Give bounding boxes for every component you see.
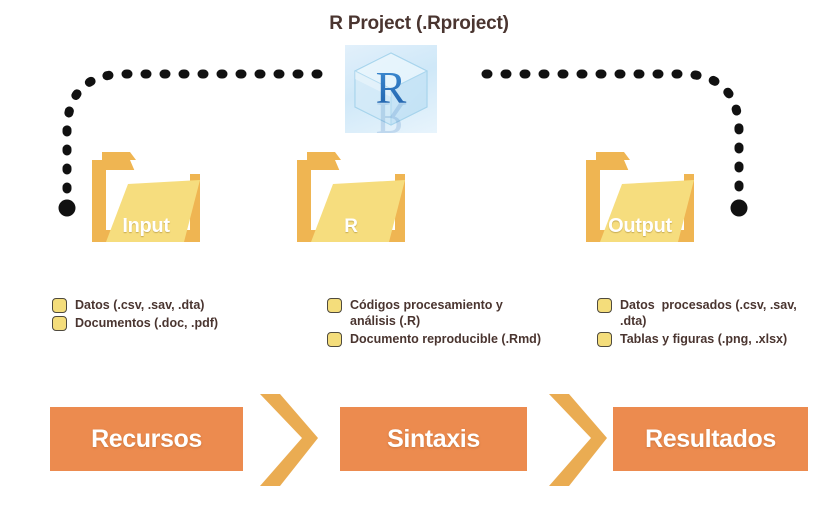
folder-output[interactable]: Output: [578, 146, 702, 250]
bullet-list-results: Datos procesados (.csv, .sav, .dta) Tabl…: [597, 297, 829, 349]
bullet-list-syntax: Códigos procesamiento y análisis (.R) Do…: [327, 297, 577, 349]
bullet-square-icon: [597, 332, 612, 347]
diagram-canvas: R Project (.Rproject): [0, 0, 838, 521]
list-item: Datos procesados (.csv, .sav, .dta): [597, 297, 829, 329]
r-cube-icon: R R: [345, 45, 437, 133]
list-item: Códigos procesamiento y análisis (.R): [327, 297, 577, 329]
stage-label: Resultados: [645, 425, 776, 454]
folder-input[interactable]: Input: [84, 146, 208, 250]
bullet-square-icon: [597, 298, 612, 313]
bullet-square-icon: [52, 298, 67, 313]
list-item-label: Documentos (.doc, .pdf): [75, 315, 218, 331]
stage-label: Sintaxis: [387, 425, 480, 454]
chevron-right-icon-2: [541, 392, 613, 488]
stage-sintaxis[interactable]: Sintaxis: [340, 407, 527, 471]
svg-text:R: R: [376, 93, 407, 133]
bullet-square-icon: [327, 332, 342, 347]
page-title: R Project (.Rproject): [0, 13, 838, 35]
list-item: Documento reproducible (.Rmd): [327, 331, 577, 347]
list-item: Documentos (.doc, .pdf): [52, 315, 297, 331]
left-endpoint-dot: [59, 200, 76, 217]
list-item-label: Tablas y figuras (.png, .xlsx): [620, 331, 787, 347]
bullet-list-resources: Datos (.csv, .sav, .dta) Documentos (.do…: [52, 297, 297, 333]
stage-resultados[interactable]: Resultados: [613, 407, 808, 471]
list-item: Datos (.csv, .sav, .dta): [52, 297, 297, 313]
list-item: Tablas y figuras (.png, .xlsx): [597, 331, 829, 347]
list-item-label: Datos procesados (.csv, .sav, .dta): [620, 297, 825, 329]
bullet-square-icon: [327, 298, 342, 313]
bullet-square-icon: [52, 316, 67, 331]
stage-label: Recursos: [91, 425, 202, 454]
stage-recursos[interactable]: Recursos: [50, 407, 243, 471]
folder-r[interactable]: R: [289, 146, 413, 250]
chevron-right-icon-1: [252, 392, 324, 488]
right-endpoint-dot: [731, 200, 748, 217]
r-project-logo: R R: [345, 45, 437, 133]
list-item-label: Datos (.csv, .sav, .dta): [75, 297, 204, 313]
list-item-label: Documento reproducible (.Rmd): [350, 331, 541, 347]
list-item-label: Códigos procesamiento y análisis (.R): [350, 297, 550, 329]
